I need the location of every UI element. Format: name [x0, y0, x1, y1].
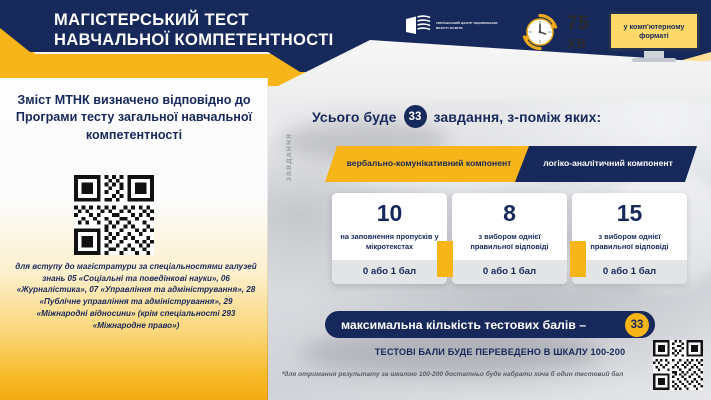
task-card-description: з вибором однієї правильної відповіді: [580, 232, 679, 252]
task-card: 15 з вибором однієї правильної відповіді…: [572, 193, 687, 284]
task-card-score: 0 або 1 бал: [452, 260, 567, 284]
max-score-bar: максимальна кількість тестових балів – 3…: [325, 311, 655, 338]
card-divider-accent: [437, 241, 453, 277]
task-card-count: 8: [460, 202, 559, 225]
duration-indicator: 75 ХВ: [520, 12, 589, 52]
monitor-screen-text: у комп'ютерному форматі: [624, 22, 685, 40]
left-panel-heading: Зміст МТНК визначено відповідно до Прогр…: [14, 92, 254, 144]
task-card-description: з вибором однієї правильної відповіді: [460, 232, 559, 252]
computer-format-badge: у комп'ютерному форматі: [608, 11, 700, 67]
task-card-count: 10: [340, 202, 439, 225]
task-card-score: 0 або 1 бал: [332, 260, 447, 284]
infographic-poster: МАГІСТЕРСЬКИЙ ТЕСТ НАВЧАЛЬНОЇ КОМПЕТЕНТН…: [0, 0, 711, 400]
banner-logic-label: логіко-аналітичний компонент: [543, 158, 673, 169]
qr-code-icon[interactable]: [652, 340, 704, 390]
duration-number: 75: [567, 14, 589, 33]
max-score-label: максимальна кількість тестових балів –: [341, 318, 586, 332]
duration-text: 75 ХВ: [567, 14, 589, 50]
left-panel-note: для вступу до магістратури за спеціально…: [14, 261, 258, 331]
task-card-body: 15 з вибором однієї правильної відповіді: [572, 193, 687, 260]
page-title: МАГІСТЕРСЬКИЙ ТЕСТ НАВЧАЛЬНОЇ КОМПЕТЕНТН…: [54, 10, 384, 50]
left-info-panel: Зміст МТНК визначено відповідно до Прогр…: [0, 78, 268, 400]
task-card-body: 8 з вибором однієї правильної відповіді: [452, 193, 567, 260]
logo-text: УКРАЇНСЬКИЙ ЦЕНТР ОЦІНЮВАННЯ ЯКОСТІ ОСВІ…: [436, 21, 501, 30]
scale-conversion-text: ТЕСТОВІ БАЛИ БУДЕ ПЕРЕВЕДЕНО В ШКАЛУ 100…: [335, 347, 665, 357]
clock-icon: [520, 12, 560, 52]
total-tasks-suffix: завдання, з-поміж яких:: [434, 109, 602, 125]
task-card: 8 з вибором однієї правильної відповіді …: [452, 193, 567, 284]
organization-logo: УКРАЇНСЬКИЙ ЦЕНТР ОЦІНЮВАННЯ ЯКОСТІ ОСВІ…: [405, 11, 501, 41]
max-score-badge: 33: [625, 313, 649, 337]
tasks-axis-label: завдання: [283, 117, 297, 197]
footnote-text: *для отримання результату за шкалою 100-…: [245, 371, 660, 378]
task-cards: 10 на заповнення пропусків у мікротекста…: [318, 193, 700, 297]
card-divider-accent: [570, 241, 586, 277]
total-tasks-line: Усього буде 33 завдання, з-поміж яких:: [312, 103, 601, 130]
format-badge-line2: форматі: [624, 31, 685, 40]
monitor-stand-neck: [644, 51, 664, 58]
monitor-stand-base: [632, 58, 676, 62]
page-title-line1: МАГІСТЕРСЬКИЙ ТЕСТ: [54, 10, 384, 30]
duration-unit: ХВ: [567, 37, 589, 50]
banner-verbal-label: вербально-комунікативний компонент: [347, 158, 512, 169]
total-tasks-prefix: Усього буде: [312, 109, 397, 125]
monitor-icon: у комп'ютерному форматі: [608, 11, 700, 51]
task-card-description: на заповнення пропусків у мікротекстах: [340, 232, 439, 252]
task-card-body: 10 на заповнення пропусків у мікротекста…: [332, 193, 447, 260]
open-book-icon: [405, 15, 431, 37]
component-banners: вербально-комунікативний компонент логік…: [325, 146, 697, 182]
task-card-score: 0 або 1 бал: [572, 260, 687, 284]
task-card-count: 15: [580, 202, 679, 225]
page-title-line2: НАВЧАЛЬНОЇ КОМПЕТЕНТНОСТІ: [54, 30, 384, 50]
banner-logical-analytical: логіко-аналітичний компонент: [515, 146, 697, 182]
format-badge-line1: у комп'ютерному: [624, 22, 685, 31]
qr-code-icon[interactable]: [72, 175, 156, 255]
total-tasks-badge: 33: [404, 105, 427, 128]
task-card: 10 на заповнення пропусків у мікротекста…: [332, 193, 447, 284]
banner-verbal-communicative: вербально-комунікативний компонент: [325, 146, 531, 182]
